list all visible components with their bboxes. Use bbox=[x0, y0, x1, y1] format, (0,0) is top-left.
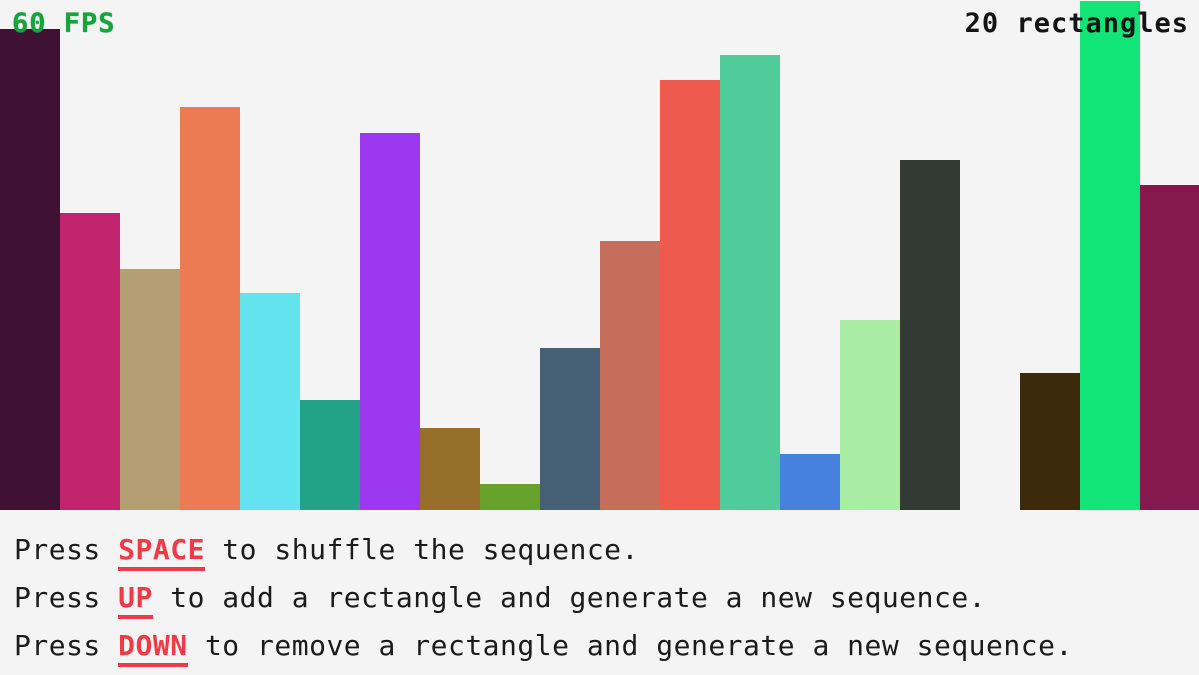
bar-rectangle bbox=[480, 484, 540, 510]
instruction-suffix: to shuffle the sequence. bbox=[205, 533, 639, 566]
keyboard-key-down[interactable]: DOWN bbox=[118, 629, 187, 667]
rectangle-sequence-chart bbox=[0, 0, 1199, 510]
instruction-suffix: to remove a rectangle and generate a new… bbox=[188, 629, 1073, 662]
bar-rectangle bbox=[180, 107, 240, 510]
bar-rectangle bbox=[60, 213, 120, 510]
bar-rectangle bbox=[1080, 1, 1140, 510]
bar-rectangle bbox=[660, 80, 720, 510]
bar-rectangle bbox=[840, 320, 900, 510]
instruction-line: Press DOWN to remove a rectangle and gen… bbox=[14, 622, 1199, 670]
instruction-prefix: Press bbox=[14, 581, 118, 614]
instruction-prefix: Press bbox=[14, 629, 118, 662]
rectangle-count-label: 20 rectangles bbox=[965, 8, 1189, 39]
keyboard-key-space[interactable]: SPACE bbox=[118, 533, 205, 571]
bar-rectangle bbox=[420, 428, 480, 510]
bar-rectangle bbox=[780, 454, 840, 510]
instruction-prefix: Press bbox=[14, 533, 118, 566]
bar-rectangle bbox=[300, 400, 360, 510]
app-stage: 60 FPS 20 rectangles Press SPACE to shuf… bbox=[0, 0, 1199, 675]
bar-rectangle bbox=[540, 348, 600, 510]
bar-rectangle bbox=[1140, 185, 1199, 510]
instructions-panel: Press SPACE to shuffle the sequence.Pres… bbox=[0, 512, 1199, 675]
bar-rectangle bbox=[360, 133, 420, 510]
bar-rectangle bbox=[1020, 373, 1080, 510]
instruction-line: Press UP to add a rectangle and generate… bbox=[14, 574, 1199, 622]
bar-rectangle bbox=[600, 241, 660, 510]
keyboard-key-up[interactable]: UP bbox=[118, 581, 153, 619]
instruction-line: Press SPACE to shuffle the sequence. bbox=[14, 526, 1199, 574]
instruction-suffix: to add a rectangle and generate a new se… bbox=[153, 581, 986, 614]
bar-rectangle bbox=[720, 55, 780, 510]
fps-counter: 60 FPS bbox=[12, 8, 116, 39]
bar-rectangle bbox=[120, 269, 180, 510]
bar-rectangle bbox=[0, 29, 60, 510]
bar-rectangle bbox=[240, 293, 300, 510]
bar-rectangle bbox=[900, 160, 960, 510]
